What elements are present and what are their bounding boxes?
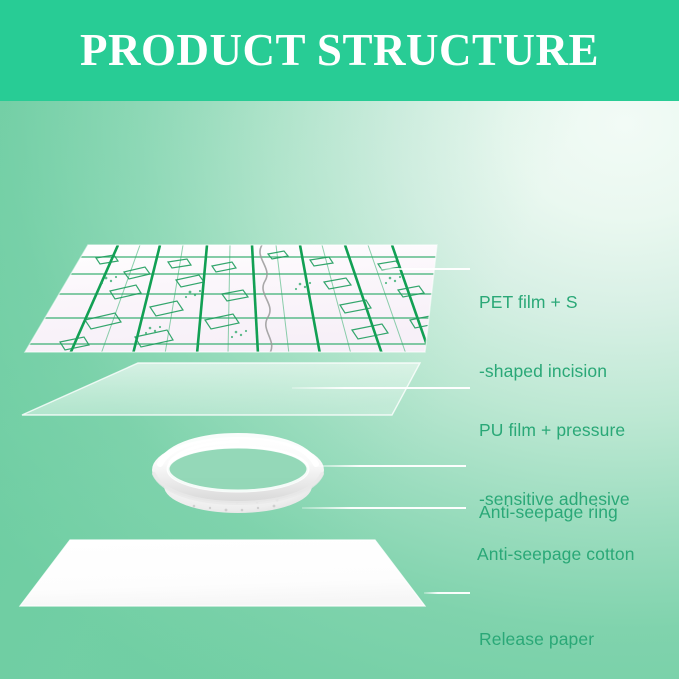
- page-title: PRODUCT STRUCTURE: [0, 20, 679, 80]
- layer-ring-and-cotton: [130, 420, 350, 530]
- product-structure-infographic: PET film + S -shaped incision PU film + …: [0, 0, 679, 679]
- header-band: PRODUCT STRUCTURE: [0, 0, 679, 101]
- callout-pu-film-line-1: PU film + pressure: [479, 419, 630, 442]
- layer-pet-film: [0, 232, 450, 372]
- leader-line-cotton: [302, 507, 466, 509]
- leader-line-ring: [314, 465, 466, 467]
- callout-pet-film-line-1: PET film + S: [479, 291, 607, 314]
- leader-line-pet-film: [378, 268, 470, 270]
- callout-cotton-line-1: Anti-seepage cotton: [477, 543, 635, 566]
- layer-pu-film: [20, 355, 440, 430]
- callout-release-paper: Release paper: [479, 582, 594, 679]
- release-paper-face: [20, 540, 425, 606]
- layer-release-paper: [10, 528, 450, 618]
- callout-release-paper-line-1: Release paper: [479, 628, 594, 651]
- leader-line-pu-film: [292, 387, 470, 389]
- leader-line-release-paper: [424, 592, 470, 594]
